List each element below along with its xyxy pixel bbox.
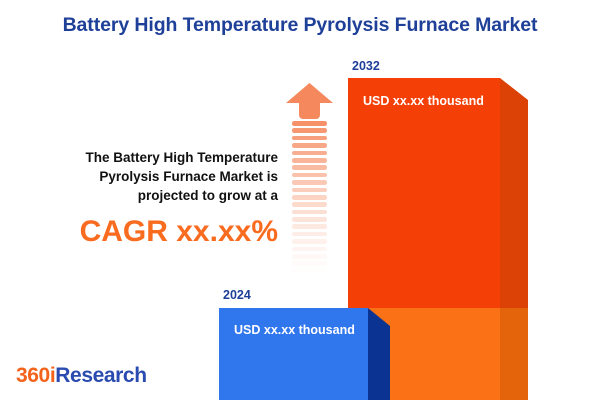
brand-logo: 360iResearch: [16, 364, 147, 388]
arrow-shaft-stripe: [292, 165, 327, 170]
bar-2032-front-face-upper: [348, 78, 500, 308]
arrow-shaft-stripe: [292, 232, 327, 237]
narrative-line-1: The Battery High Temperature: [30, 148, 278, 167]
arrow-shaft-stripe: [292, 217, 327, 222]
bar-2024: 2024 USD xx.xx thousand: [219, 308, 390, 400]
arrow-shaft-stripe: [292, 276, 327, 281]
arrow-shaft-stripe: [292, 247, 327, 252]
bar-2032-category-label: 2032: [352, 59, 380, 73]
bar-2032-value-label: USD xx.xx thousand: [363, 94, 484, 108]
arrow-shaft-stripe: [292, 261, 327, 266]
bar-2024-front-face: [219, 308, 368, 400]
bar-2032-side-face-upper: [500, 78, 528, 308]
arrow-shaft-stripe: [292, 188, 327, 193]
arrow-shaft-stripe: [292, 254, 327, 259]
arrow-shaft-stripe: [292, 143, 327, 148]
arrow-shaft-stripe: [292, 269, 327, 274]
arrow-head-icon: [286, 83, 333, 119]
arrow-shaft-stripe: [292, 151, 327, 156]
page-title: Battery High Temperature Pyrolysis Furna…: [0, 14, 600, 37]
arrow-shaft-stripe: [292, 239, 327, 244]
infographic-canvas: Battery High Temperature Pyrolysis Furna…: [0, 0, 600, 400]
arrow-shaft-stripe: [292, 128, 327, 133]
arrow-shaft-stripe: [292, 180, 327, 185]
logo-part-research: Research: [55, 364, 146, 387]
bar-2024-category-label: 2024: [223, 288, 251, 302]
arrow-shaft-stripe: [292, 158, 327, 163]
arrow-shaft-stripe: [292, 202, 327, 207]
bar-2024-side-face: [368, 308, 390, 400]
arrow-shaft-stripe: [292, 173, 327, 178]
arrow-shaft-stripe: [292, 224, 327, 229]
arrow-shaft: [292, 121, 327, 295]
narrative-text-block: The Battery High Temperature Pyrolysis F…: [30, 148, 278, 249]
logo-part-360: 360: [16, 364, 50, 387]
arrow-shaft-stripe: [292, 136, 327, 141]
arrow-shaft-stripe: [292, 195, 327, 200]
narrative-line-3: projected to grow at a: [30, 186, 278, 205]
cagr-value: CAGR xx.xx%: [30, 215, 278, 249]
arrow-shaft-stripe: [292, 121, 327, 126]
bar-2032-side-face-lower: [500, 308, 528, 400]
narrative-line-2: Pyrolysis Furnace Market is: [30, 167, 278, 186]
bar-2024-value-label: USD xx.xx thousand: [234, 323, 355, 337]
growth-arrow-up-icon: [286, 83, 333, 295]
arrow-shaft-stripe: [292, 210, 327, 215]
